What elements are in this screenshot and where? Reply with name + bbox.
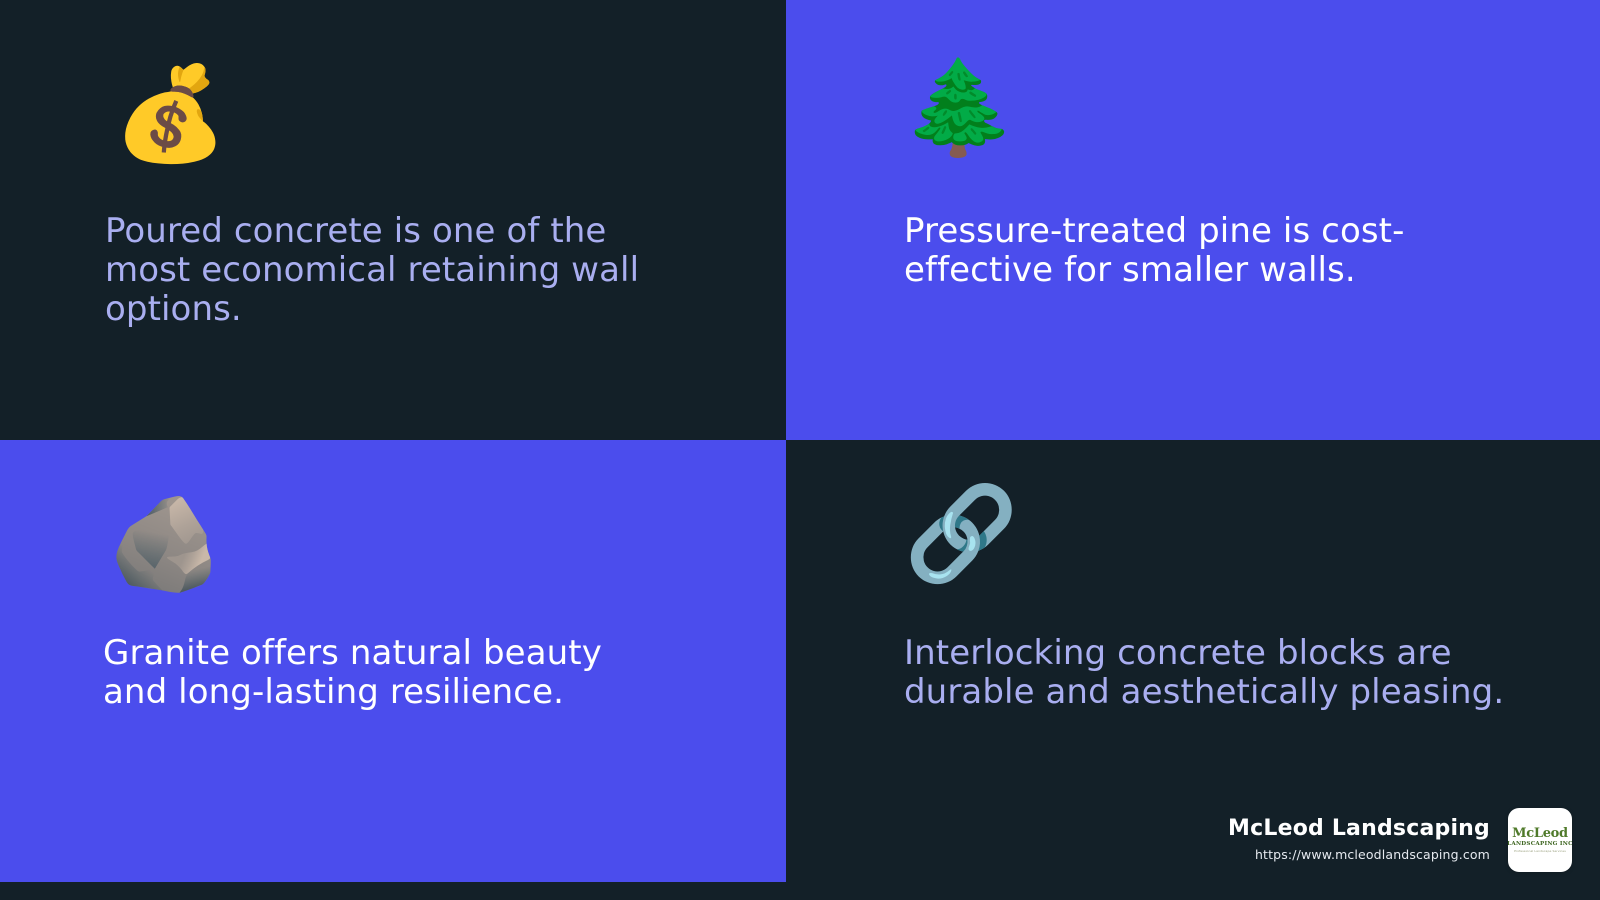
- brand-url[interactable]: https://www.mcleodlandscaping.com: [1228, 847, 1490, 862]
- panel-content-granite: 🪨 Granite offers natural beauty and long…: [103, 440, 666, 882]
- brand-logo[interactable]: McLeod LANDSCAPING INC Professional Land…: [1508, 808, 1572, 872]
- bottom-strip: [0, 882, 1600, 900]
- rock-emoji: 🪨: [108, 498, 223, 590]
- logo-subtitle: LANDSCAPING INC: [1508, 842, 1572, 848]
- panel-text-poured-concrete: Poured concrete is one of the most econo…: [105, 212, 666, 328]
- quadrant-grid: 💰 Poured concrete is one of the most eco…: [0, 0, 1600, 882]
- panel-text-pressure-treated-pine: Pressure-treated pine is cost-effective …: [904, 212, 1520, 290]
- brand-textblock: McLeod Landscaping https://www.mcleodlan…: [1228, 816, 1490, 864]
- panel-text-granite: Granite offers natural beauty and long-l…: [103, 634, 666, 712]
- panel-content-poured-concrete: 💰 Poured concrete is one of the most eco…: [105, 0, 666, 440]
- panel-poured-concrete[interactable]: 💰 Poured concrete is one of the most eco…: [0, 0, 786, 440]
- panel-pressure-treated-pine[interactable]: 🌲 Pressure-treated pine is cost-effectiv…: [786, 0, 1600, 440]
- panel-granite[interactable]: 🪨 Granite offers natural beauty and long…: [0, 440, 786, 882]
- panel-content-pressure-treated-pine: 🌲 Pressure-treated pine is cost-effectiv…: [904, 0, 1520, 440]
- brand-footer[interactable]: McLeod Landscaping https://www.mcleodlan…: [1228, 808, 1572, 872]
- logo-tagline: Professional Landscape Services: [1514, 850, 1566, 853]
- infographic-canvas: 💰 Poured concrete is one of the most eco…: [0, 0, 1600, 900]
- money-bag-emoji: 💰: [113, 68, 228, 160]
- logo-wordmark: McLeod: [1512, 827, 1568, 840]
- chain-links-emoji: 🔗: [904, 488, 1019, 580]
- brand-name: McLeod Landscaping: [1228, 816, 1490, 842]
- panel-text-interlocking-concrete-blocks: Interlocking concrete blocks are durable…: [904, 634, 1520, 712]
- evergreen-tree-emoji: 🌲: [902, 62, 1017, 154]
